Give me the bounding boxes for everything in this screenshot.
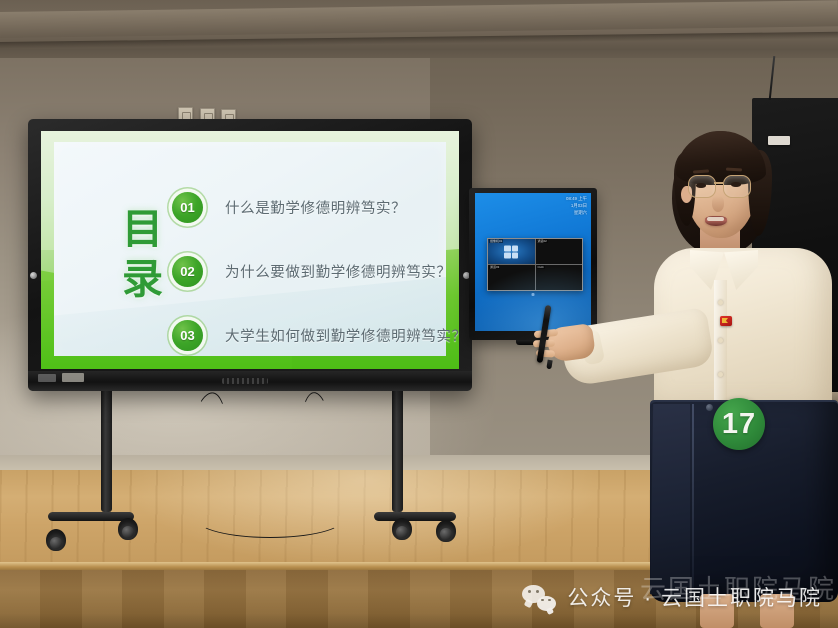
cctv-cell-label: 通道02 <box>537 239 548 243</box>
stand-leg-left <box>101 388 112 512</box>
cctv-cell-label: 通道03 <box>489 265 500 269</box>
toc-item: 03 大学生如何做到勤学修德明辨笃实？ <box>172 306 428 364</box>
monitor-clock-weekday: 星期六 <box>566 210 587 217</box>
cctv-cell[interactable]: 通道03 <box>488 265 535 290</box>
skirt-wrap-panel <box>650 404 690 600</box>
eye-left <box>696 183 706 188</box>
cctv-cell[interactable]: 摄像机01 <box>488 239 535 264</box>
watermark-text: 公众号 · 云国土职院马院 <box>567 582 822 612</box>
caster-wheel <box>46 529 66 551</box>
waistband-button <box>706 404 713 411</box>
caster-wheel <box>392 518 412 540</box>
interactive-whiteboard[interactable]: 目录 01 什么是勤学修德明辨笃实？ 02 为什么要做到勤学修德明辨笃实？ 03 <box>28 119 472 391</box>
nose <box>712 196 724 212</box>
blouse-button <box>718 338 723 343</box>
watermark: 公众号 · 云国土职院马院 <box>522 582 822 612</box>
monitor-taskbar-dot <box>532 293 535 296</box>
toc-item-label: 大学生如何做到勤学修德明辨笃实？ <box>225 325 459 346</box>
blouse-button <box>718 300 723 305</box>
slide-content-card: 目录 01 什么是勤学修德明辨笃实？ 02 为什么要做到勤学修德明辨笃实？ 03 <box>54 142 446 356</box>
iwb-brand-label <box>62 373 84 382</box>
blouse-button <box>718 372 723 377</box>
toc-item-label: 什么是勤学修德明辨笃实？ <box>225 197 406 218</box>
caster-wheel <box>436 520 456 542</box>
iwb-port-label <box>38 374 56 382</box>
iwb-screen[interactable]: 目录 01 什么是勤学修德明辨笃实？ 02 为什么要做到勤学修德明辨笃实？ 03 <box>41 131 459 369</box>
monitor-screen[interactable]: 08:49 上午 1月03日 星期六 摄像机01 通道02 通道03 CH4 <box>475 193 591 331</box>
slide-title: 目录 <box>112 204 174 304</box>
stand-leg-right <box>392 388 403 512</box>
party-emblem-pin-icon <box>720 316 732 326</box>
toc-item-number: 03 <box>172 320 203 351</box>
caster-wheel <box>118 518 138 540</box>
cctv-cell-label: CH4 <box>537 265 545 269</box>
eye-right <box>731 182 741 187</box>
slide-toc-list: 01 什么是勤学修德明辨笃实？ 02 为什么要做到勤学修德明辨笃实？ 03 大学… <box>172 178 428 369</box>
secondary-monitor[interactable]: 08:49 上午 1月03日 星期六 摄像机01 通道02 通道03 CH4 <box>469 188 597 340</box>
chin <box>698 228 738 244</box>
toc-item: 01 什么是勤学修德明辨笃实？ <box>172 178 428 236</box>
teeth <box>707 217 724 221</box>
iwb-speaker-grille <box>222 378 268 384</box>
wechat-icon <box>522 583 556 611</box>
monitor-clock-time: 08:49 上午 <box>566 196 587 203</box>
presentation-photo-scene: 目录 01 什么是勤学修德明辨笃实？ 02 为什么要做到勤学修德明辨笃实？ 03 <box>0 0 838 628</box>
toc-item-number: 02 <box>172 256 203 287</box>
cctv-cell[interactable]: CH4 <box>536 265 583 290</box>
cctv-grid[interactable]: 摄像机01 通道02 通道03 CH4 <box>487 238 583 291</box>
cabinet-label <box>768 136 790 145</box>
cctv-cell[interactable]: 通道02 <box>536 239 583 264</box>
presentation-slide: 目录 01 什么是勤学修德明辨笃实？ 02 为什么要做到勤学修德明辨笃实？ 03 <box>41 131 459 369</box>
toc-item: 02 为什么要做到勤学修德明辨笃实？ <box>172 242 428 300</box>
glasses-bridge <box>714 182 723 184</box>
monitor-clock: 08:49 上午 1月03日 星期六 <box>566 196 587 216</box>
lens-right <box>723 175 751 198</box>
skirt-seam <box>692 404 694 600</box>
iwb-side-button[interactable] <box>30 272 37 279</box>
monitor-clock-date: 1月03日 <box>566 203 587 210</box>
toc-item-number: 01 <box>172 192 203 223</box>
toc-item-label: 为什么要做到勤学修德明辨笃实？ <box>225 261 452 282</box>
contestant-number-badge: 17 <box>713 398 765 450</box>
cctv-cell-label: 摄像机01 <box>489 239 503 243</box>
windows-logo-icon <box>504 246 518 259</box>
